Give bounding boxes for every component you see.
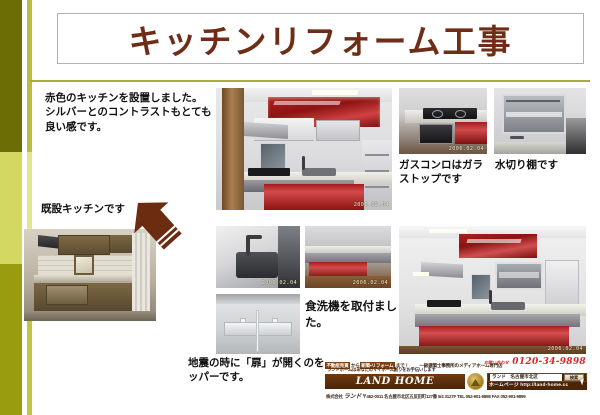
photo-layer-stopper-clip bbox=[240, 318, 246, 323]
photo-timestamp: 2006.02.04 bbox=[353, 280, 388, 286]
photo-dishwasher-row: 2006.02.04 bbox=[305, 226, 391, 288]
footer-website-label: ホームページ bbox=[489, 383, 519, 388]
photo-layer-window bbox=[471, 274, 491, 300]
left-bar-segment-middle bbox=[0, 152, 22, 264]
photo-layer-mirror bbox=[74, 255, 94, 275]
photo-layer-window bbox=[260, 143, 286, 171]
photo-sink-closeup: 2006.02.04 bbox=[216, 226, 300, 288]
photo-layer-red-cabinet bbox=[455, 122, 487, 144]
title-box: キッチンリフォーム工事 bbox=[57, 13, 584, 64]
title-divider-rule bbox=[30, 80, 590, 82]
photo-layer-tall-unit bbox=[545, 260, 579, 306]
photo-layer-shelf bbox=[365, 186, 389, 188]
photo-layer-wall-light bbox=[413, 272, 429, 276]
photo-layer-sink-basin bbox=[236, 252, 278, 278]
footer-slogan: ランドホームはあなたのマイホーム創りをお手伝いします bbox=[327, 367, 436, 373]
footer-legal-line: 株式会社 ランド 〒462-0011 名古屋市北区五反田町127番 5/4 31… bbox=[326, 391, 587, 400]
left-bar-segment-bottom bbox=[0, 264, 22, 415]
photo-layer-upper-cabinet-right bbox=[316, 120, 360, 141]
footer-search-bar[interactable]: ランド 名古屋市北区 検索 bbox=[487, 373, 587, 382]
left-accent-top bbox=[27, 0, 32, 152]
photo-timestamp: 2006.02.04 bbox=[262, 280, 297, 286]
photo-layer-gloss-highlight bbox=[273, 101, 340, 105]
footer-seal-roof-icon bbox=[471, 379, 480, 386]
photo-new-kitchen-wide: 2006.02.04 bbox=[399, 226, 586, 354]
photo-layer-shadow-right bbox=[278, 226, 300, 288]
photo-layer-stopper-bar bbox=[256, 310, 259, 352]
footer-website-bar[interactable]: ホームページ http://land-home.cc bbox=[487, 382, 587, 390]
page-title: キッチンリフォーム工事 bbox=[58, 14, 583, 63]
photo-layer-wood-post bbox=[222, 88, 244, 210]
photo-gas-stove: 2006.02.04 bbox=[399, 88, 487, 154]
footer-phone-number: 0120-34-9898 bbox=[512, 357, 586, 367]
caption-gas-stove: ガスコンロはガラストップです bbox=[399, 158, 487, 187]
caption-intro: 赤色のキッチンを設置しました。 シルバーとのコントラストもとても良い感です。 bbox=[45, 91, 217, 134]
photo-drying-rack bbox=[494, 88, 586, 154]
photo-layer-burner bbox=[455, 110, 466, 118]
footer-website-url[interactable]: http://land-home.cc bbox=[520, 383, 568, 388]
photo-stopper-cabinet bbox=[216, 294, 300, 354]
photo-layer-cooktop bbox=[427, 300, 461, 307]
footer-seal-emblem-icon bbox=[467, 373, 484, 390]
photo-layer-upper-red-cabinet bbox=[459, 234, 537, 258]
footer-brand-name: LAND HOME bbox=[325, 374, 465, 389]
photo-layer-faucet bbox=[302, 156, 305, 170]
photo-layer-countertop bbox=[34, 275, 140, 283]
search-input[interactable]: ランド 名古屋市北区 bbox=[490, 374, 562, 381]
footer-legal-address: 〒462-0011 名古屋市北区五反田町127番 5/4 3127F TEL 0… bbox=[362, 394, 525, 399]
photo-layer-ceiling-light bbox=[429, 229, 467, 233]
photo-layer-faucet bbox=[489, 290, 492, 304]
footer-phone-label: お問い合わせ bbox=[484, 360, 509, 365]
photo-layer-rack-rail bbox=[506, 100, 560, 102]
footer-phone-block: お問い合わせ 0120-34-9898 bbox=[484, 357, 586, 367]
photo-layer-upper-cabinet bbox=[58, 235, 110, 255]
photo-layer-sink bbox=[302, 168, 336, 176]
photo-timestamp: 2006.02.04 bbox=[449, 146, 484, 152]
photo-layer-gloss-highlight bbox=[466, 239, 521, 243]
photo-timestamp: 2006.02.04 bbox=[354, 202, 389, 208]
photo-layer-glass-shelf bbox=[506, 112, 562, 117]
photo-timestamp: 2006.02.04 bbox=[548, 346, 583, 352]
photo-layer-oven bbox=[419, 124, 453, 144]
left-bar-segment-top bbox=[0, 0, 22, 152]
photo-layer-faucet bbox=[510, 136, 524, 139]
photo-layer-burner bbox=[432, 110, 443, 118]
photo-layer-lower-red-cabinet bbox=[419, 326, 569, 348]
photo-layer-lower-red-cabinet bbox=[264, 184, 364, 210]
photo-layer-shadow-right bbox=[566, 118, 586, 154]
photo-layer-shelf bbox=[365, 154, 389, 156]
photo-layer-ceiling-light bbox=[312, 90, 358, 95]
photo-layer-drying-rack bbox=[495, 262, 543, 290]
photo-new-kitchen-main: 2006.02.04 bbox=[216, 88, 392, 210]
photo-layer-cabinet-top bbox=[216, 294, 300, 304]
footer-legal-prefix: 株式会社 bbox=[326, 394, 343, 399]
photo-layer-cooktop bbox=[248, 168, 290, 176]
footer-advertisement-banner: 不動産売買から新築・リフォームまで！ 一級建築士事務所のメディアホーム専門店 お… bbox=[325, 357, 587, 401]
slide-canvas: キッチンリフォーム工事 赤色のキッチンを設置しました。 シルバーとのコントラスト… bbox=[0, 0, 600, 415]
upward-arrow-graphic bbox=[119, 196, 193, 250]
footer-legal-company: ランド bbox=[344, 393, 361, 400]
photo-layer-sink-tub bbox=[46, 285, 88, 305]
photo-layer-gloss-highlight bbox=[499, 272, 539, 278]
photo-layer-faucet bbox=[246, 236, 250, 256]
photo-layer-sink bbox=[491, 302, 525, 310]
photo-layer-floor bbox=[24, 311, 156, 321]
caption-drying-rack: 水切り棚です bbox=[495, 158, 590, 172]
photo-layer-stopper-clip bbox=[272, 318, 278, 323]
photo-layer-faucet-spout bbox=[246, 235, 262, 239]
